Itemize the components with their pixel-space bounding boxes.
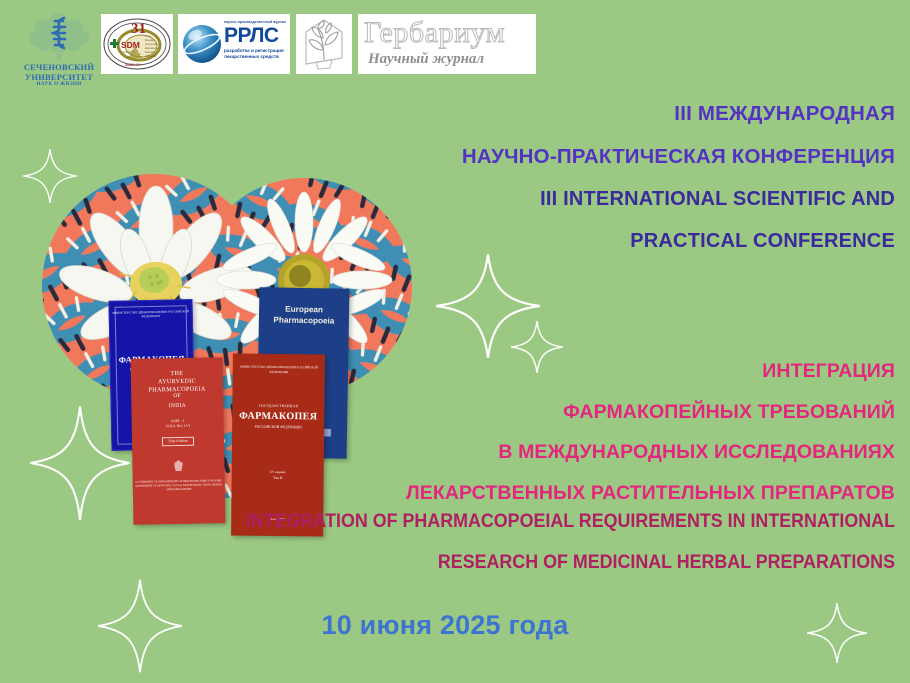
conference-title: III МЕЖДУНАРОДНАЯ НАУЧНО-ПРАКТИЧЕСКАЯ КО… bbox=[430, 104, 895, 273]
topic-en-line-1: INTEGRATION OF PHARMACOPOEIAL REQUIREMEN… bbox=[129, 512, 895, 531]
conference-topic-en: INTEGRATION OF PHARMACOPOEIAL REQUIREMEN… bbox=[80, 512, 895, 594]
emblem-icon bbox=[174, 460, 183, 471]
topic-en-line-2: RESEARCH OF MEDICINAL HERBAL PREPARATION… bbox=[129, 553, 895, 572]
sechenov-caption-line1: СЕЧЕНОВСКИЙ bbox=[20, 63, 98, 72]
pill-sphere-icon bbox=[180, 16, 224, 72]
topic-ru-line-3: В МЕЖДУНАРОДНЫХ ИССЛЕДОВАНИЯХ bbox=[230, 443, 895, 463]
logo-sechenov-university: СЕЧЕНОВСКИЙ УНИВЕРСИТЕТ НАУК О ЖИЗНИ bbox=[20, 12, 98, 96]
oval-emblem-icon: 31 SDM ACADEMY Three Decades of Ayurvedi… bbox=[101, 14, 173, 74]
topic-ru-line-1: ИНТЕГРАЦИЯ bbox=[230, 362, 895, 382]
topic-ru-line-2: ФАРМАКОПЕЙНЫХ ТРЕБОВАНИЙ bbox=[230, 403, 895, 423]
book-ayurvedic-pharmacopoeia-india: THE AYURVEDIC PHARMACOPOEIA OF INDIA PAR… bbox=[131, 357, 226, 525]
svg-text:Research: Research bbox=[145, 51, 156, 54]
logo-strip: СЕЧЕНОВСКИЙ УНИВЕРСИТЕТ НАУК О ЖИЗНИ 31 … bbox=[0, 0, 910, 100]
svg-text:1993-2024: 1993-2024 bbox=[145, 55, 157, 58]
svg-text:2023-24: 2023-24 bbox=[125, 62, 140, 67]
title-line-en-2: PRACTICAL CONFERENCE bbox=[430, 231, 895, 251]
topic-ru-line-4: ЛЕКАРСТВЕННЫХ РАСТИТЕЛЬНЫХ ПРЕПАРАТОВ bbox=[230, 484, 895, 504]
date-text: 10 июня 2025 года bbox=[300, 612, 590, 639]
herbarium-title: Гербариум bbox=[364, 18, 536, 48]
tree-dna-icon bbox=[20, 12, 98, 62]
conference-date: 10 июня 2025 года bbox=[300, 612, 590, 639]
svg-text:SDM: SDM bbox=[121, 40, 140, 50]
book-eur-title-line2: Pharmacopoeia bbox=[259, 314, 349, 327]
herbarium-subtitle: Научный журнал bbox=[368, 51, 536, 68]
rrls-subtitle-line1: разработка и регистрация bbox=[224, 48, 286, 54]
svg-text:Three: Three bbox=[145, 35, 152, 38]
book-india-edition: First Edition bbox=[162, 437, 193, 446]
title-line-ru-2: НАУЧНО-ПРАКТИЧЕСКАЯ КОНФЕРЕНЦИЯ bbox=[430, 147, 895, 168]
rrls-subtitle-line2: лекарственных средств bbox=[224, 54, 286, 60]
conference-poster: СЕЧЕНОВСКИЙ УНИВЕРСИТЕТ НАУК О ЖИЗНИ 31 … bbox=[0, 0, 910, 683]
book-india-line5: INDIA bbox=[131, 402, 223, 411]
svg-text:Decades: Decades bbox=[145, 39, 155, 42]
svg-text:of Ayurvedic: of Ayurvedic bbox=[145, 43, 159, 46]
title-line-en-1: III INTERNATIONAL SCIENTIFIC AND bbox=[430, 189, 895, 209]
book-india-footer: GOVERNMENT OF INDIA MINISTRY OF HEALTH A… bbox=[133, 479, 225, 492]
title-line-ru-1: III МЕЖДУНАРОДНАЯ bbox=[430, 104, 895, 125]
logo-sdm-anniversary: 31 SDM ACADEMY Three Decades of Ayurvedi… bbox=[101, 14, 173, 74]
svg-text:31: 31 bbox=[131, 21, 146, 37]
svg-text:Education &: Education & bbox=[145, 47, 158, 50]
conference-topic-ru: ИНТЕГРАЦИЯ ФАРМАКОПЕЙНЫХ ТРЕБОВАНИЙ В МЕ… bbox=[230, 362, 895, 524]
book-india-line4: OF bbox=[131, 392, 223, 401]
rrls-acronym: РРЛС bbox=[224, 25, 286, 46]
logo-herbarium-wordmark: Гербариум Научный журнал bbox=[358, 14, 536, 74]
sechenov-caption-line2: УНИВЕРСИТЕТ bbox=[20, 73, 98, 82]
logo-herbarium-emblem bbox=[296, 14, 352, 74]
sparkle-star-icon bbox=[806, 602, 868, 664]
sechenov-caption-line3: НАУК О ЖИЗНИ bbox=[20, 82, 98, 87]
herb-plant-icon bbox=[296, 14, 352, 74]
logo-rrls-journal: научно-производственный журнал РРЛС разр… bbox=[178, 14, 290, 74]
